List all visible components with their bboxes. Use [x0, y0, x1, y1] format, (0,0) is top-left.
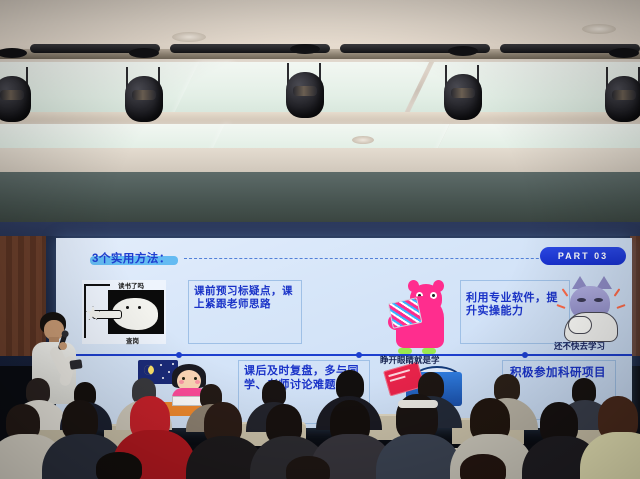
audience-head	[460, 454, 506, 479]
method-1-text: 课前预习标疑点，课上紧跟老师思路	[194, 285, 298, 311]
upper-wall	[0, 148, 640, 174]
recessed-light	[172, 32, 206, 42]
method-2-text: 利用专业软件，提升实操能力	[466, 292, 566, 318]
presenter-hand	[59, 342, 67, 350]
slide-title: 3个实用方法：	[92, 250, 171, 266]
recessed-light	[352, 136, 374, 144]
wall-spotlight-row	[56, 238, 632, 241]
audience-head	[286, 456, 330, 479]
screenshot-root: 3个实用方法： PART 03 读书了吗 查岗 课前预习标疑点，课上紧跟老师思路	[0, 0, 640, 479]
sticker-cat: 还不快去学习	[556, 282, 628, 354]
sticker-bw-meme: 读书了吗 查岗	[82, 280, 166, 344]
recessed-light	[582, 24, 616, 34]
sticker-cat-caption: 还不快去学习	[554, 340, 605, 352]
sticker-book-caption: 睁开眼睛就是学	[380, 354, 440, 366]
dark-wall-band	[0, 172, 640, 224]
sticker-pink-figure	[388, 278, 450, 354]
title-dashed-line	[184, 258, 574, 259]
sticker-caption-bottom: 查岗	[126, 335, 139, 345]
headband	[398, 400, 438, 408]
audience	[0, 378, 640, 479]
presenter-held-device	[69, 359, 82, 370]
sticker-caption-top: 读书了吗	[118, 280, 144, 290]
audience-head	[96, 452, 142, 479]
slide-divider	[56, 354, 632, 356]
part-badge: PART 03	[540, 247, 626, 265]
